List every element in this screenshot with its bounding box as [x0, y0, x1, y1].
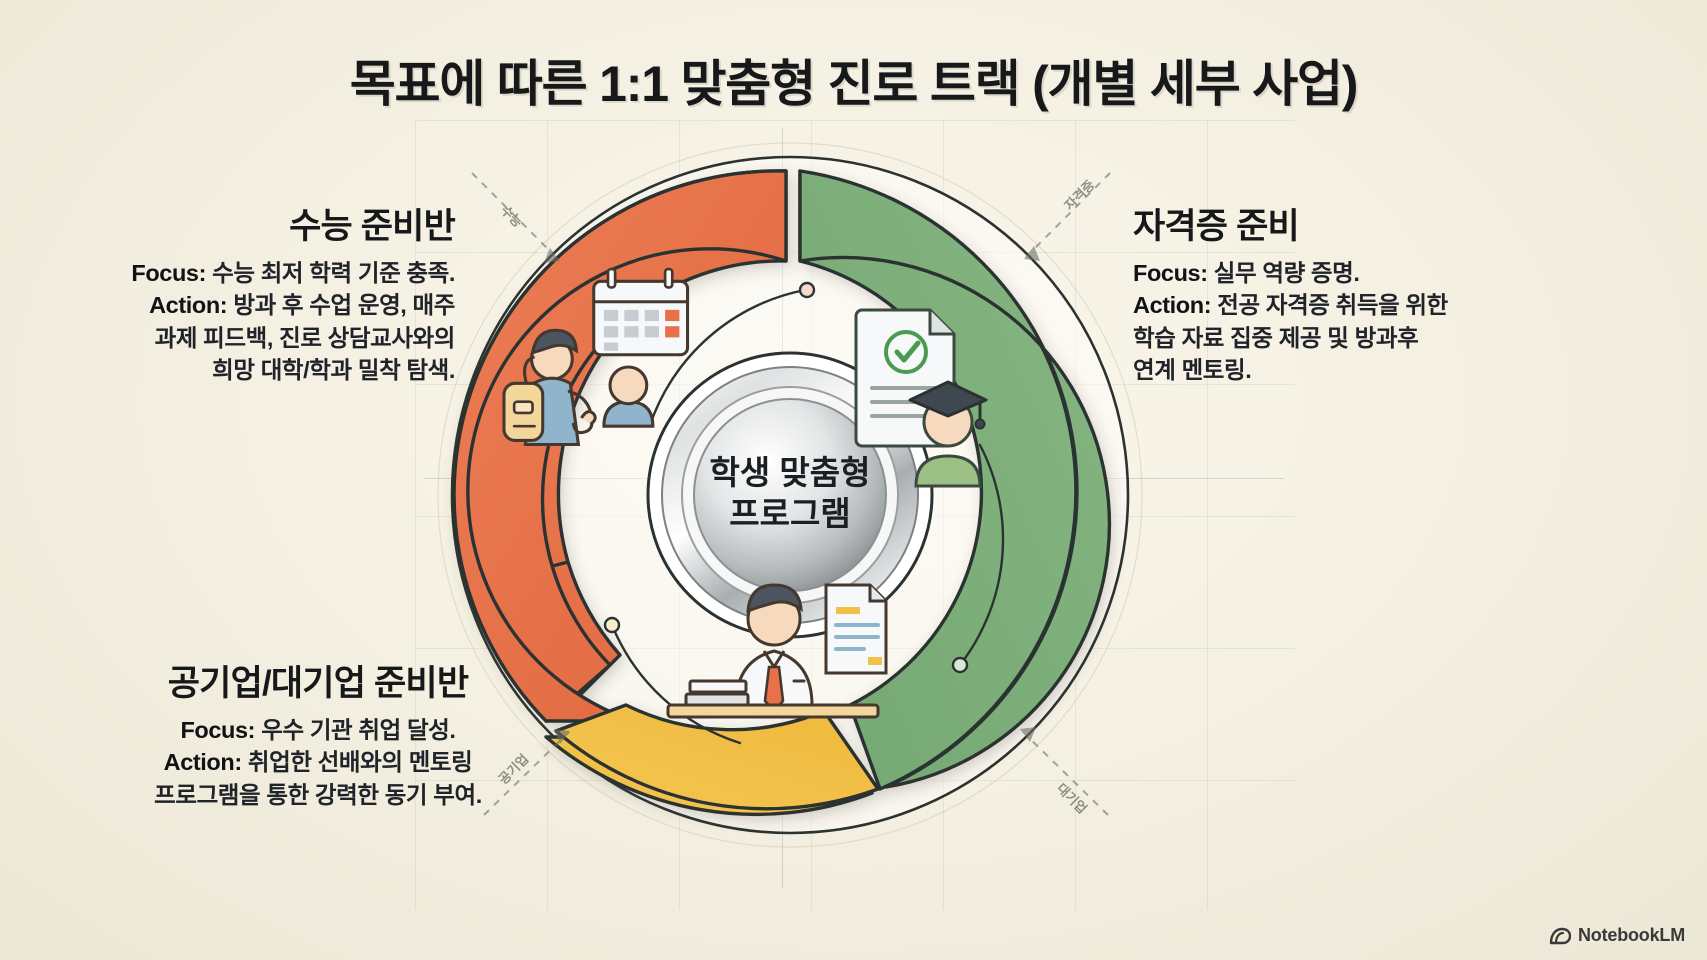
action-line3-right: 연계 멘토링.	[1133, 357, 1251, 383]
notebooklm-watermark: NotebookLM	[1549, 925, 1685, 946]
focus-text-left: 수능 최저 학력 기준 충족.	[212, 260, 455, 286]
track-heading-enterprise: 공기업/대기업 준비반	[108, 655, 528, 706]
track-focus-enterprise: Focus: 우수 기관 취업 달성.	[108, 714, 528, 746]
accent-dot-green	[953, 658, 967, 672]
infographic-canvas: 목표에 따른 1:1 맞춤형 진로 트랙 (개별 세부 사업)	[0, 0, 1707, 960]
notebooklm-label: NotebookLM	[1578, 925, 1685, 946]
action-line1-bottom: 취업한 선배와의 멘토링	[248, 749, 472, 775]
action-line1-left: 방과 후 수업 운영, 매주	[233, 292, 455, 318]
track-description-suneung: 수능 준비반 Focus: 수능 최저 학력 기준 충족. Action: 방과…	[55, 198, 455, 387]
focus-label-bottom: Focus:	[180, 717, 255, 743]
focus-label-left: Focus:	[131, 260, 206, 286]
center-label-line2: 프로그램	[729, 495, 850, 532]
callout-label-green: 자격증	[1062, 177, 1098, 213]
action-line3-left: 희망 대학/학과 밀착 탐색.	[212, 357, 455, 383]
accent-dot-orange	[800, 283, 814, 297]
track-action-certificate: Action: 전공 자격증 취득을 위한 학습 자료 집중 제공 및 방과후 …	[1133, 289, 1563, 386]
action-line2-left: 과제 피드백, 진로 상담교사와의	[155, 325, 455, 351]
action-line2-right: 학습 자료 집중 제공 및 방과후	[1133, 325, 1418, 351]
page-title: 목표에 따른 1:1 맞춤형 진로 트랙 (개별 세부 사업)	[0, 44, 1707, 116]
accent-dot-yellow	[605, 618, 619, 632]
callout-label-yellow-right: 대기업	[1054, 781, 1090, 817]
action-line2-bottom: 프로그램을 통한 강력한 동기 부여.	[154, 782, 482, 808]
notebooklm-logo-icon	[1549, 927, 1571, 945]
track-heading-suneung: 수능 준비반	[55, 198, 455, 249]
track-heading-certificate: 자격증 준비	[1133, 198, 1563, 249]
callout-label-orange: 수능	[498, 203, 526, 231]
track-focus-certificate: Focus: 실무 역량 증명.	[1133, 257, 1563, 289]
track-description-certificate: 자격증 준비 Focus: 실무 역량 증명. Action: 전공 자격증 취…	[1133, 198, 1563, 387]
action-label-left: Action:	[149, 292, 227, 318]
action-label-bottom: Action:	[164, 749, 242, 775]
track-action-suneung: Action: 방과 후 수업 운영, 매주 과제 피드백, 진로 상담교사와의…	[55, 289, 455, 386]
three-segment-wheel-diagram: 학생 맞춤형 프로그램	[420, 125, 1160, 865]
focus-label-right: Focus:	[1133, 260, 1208, 286]
action-line1-right: 전공 자격증 취득을 위한	[1217, 292, 1448, 318]
focus-text-bottom: 우수 기관 취업 달성.	[261, 717, 455, 743]
track-description-enterprise: 공기업/대기업 준비반 Focus: 우수 기관 취업 달성. Action: …	[108, 655, 528, 811]
track-action-enterprise: Action: 취업한 선배와의 멘토링 프로그램을 통한 강력한 동기 부여.	[108, 746, 528, 811]
focus-text-right: 실무 역량 증명.	[1214, 260, 1360, 286]
center-label-line1: 학생 맞춤형	[710, 454, 871, 491]
track-focus-suneung: Focus: 수능 최저 학력 기준 충족.	[55, 257, 455, 289]
action-label-right: Action:	[1133, 292, 1211, 318]
